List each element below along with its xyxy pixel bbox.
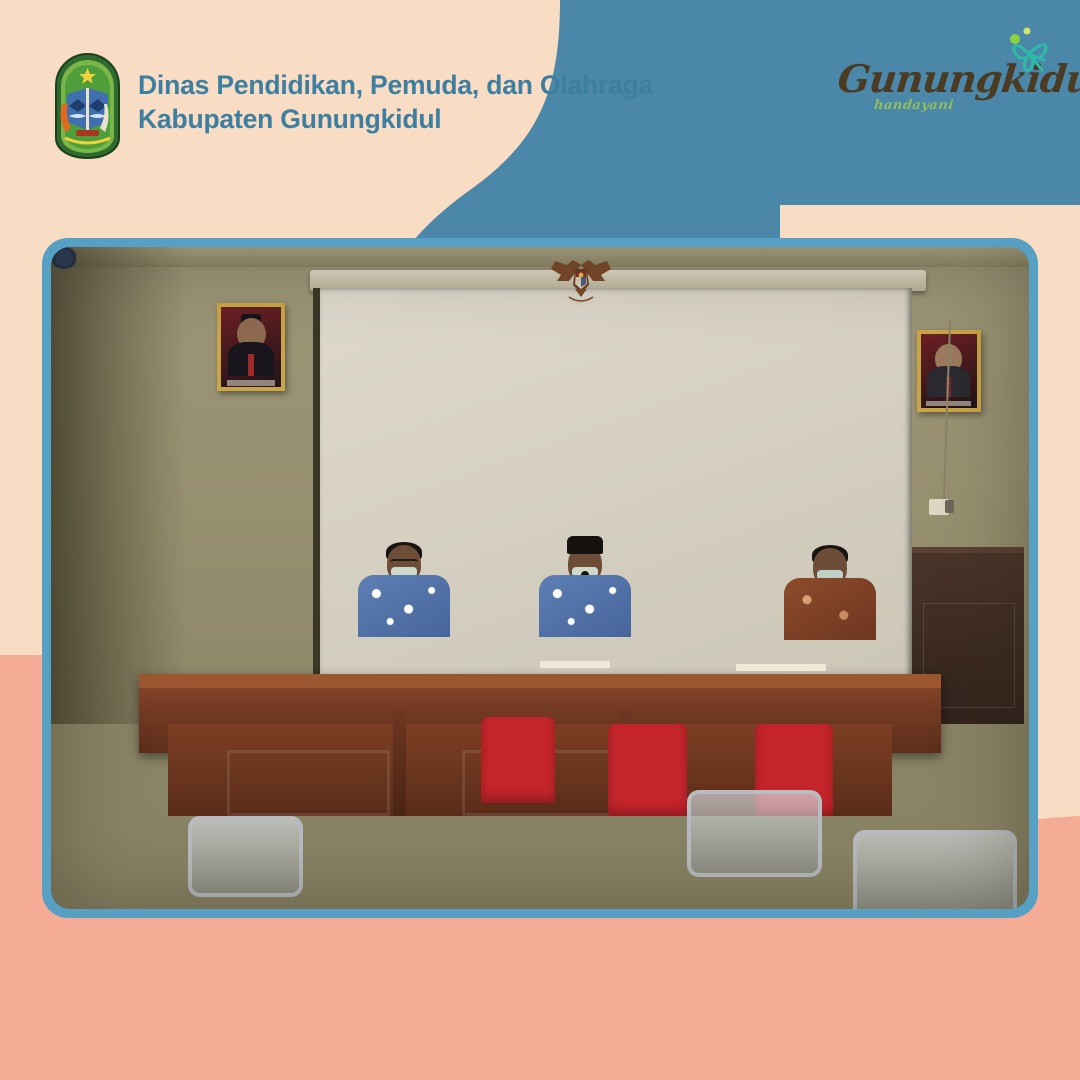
page-title: Dinas Pendidikan, Pemuda, dan Olahraga K… <box>138 68 653 136</box>
butterfly-ornament-icon <box>998 24 1060 80</box>
panelist-center <box>535 545 635 645</box>
audience-chair-steel-2 <box>853 830 1017 909</box>
ceiling-cornice <box>51 247 1029 267</box>
title-line-2: Kabupaten Gunungkidul <box>138 102 653 136</box>
logo-tagline: handayani <box>873 98 954 113</box>
event-photo <box>51 247 1029 909</box>
panelist-left <box>354 545 454 645</box>
audience-chair-steel-3 <box>188 816 304 897</box>
wall-power-socket <box>929 499 949 515</box>
poster-canvas: Dinas Pendidikan, Pemuda, dan Olahraga K… <box>0 0 1080 1080</box>
audience-chair-steel-1 <box>687 790 822 877</box>
desk-papers-center <box>540 661 610 668</box>
poster-header: Dinas Pendidikan, Pemuda, dan Olahraga K… <box>0 0 1080 210</box>
title-line-1: Dinas Pendidikan, Pemuda, dan Olahraga <box>138 68 653 102</box>
garuda-pancasila-emblem-icon <box>545 255 617 317</box>
gunungkidul-regency-crest-icon <box>45 52 130 160</box>
wall-shadow <box>51 247 188 724</box>
gunungkidul-handayani-logo: Gunungkidul handayani <box>838 38 1058 118</box>
desk-post-left <box>393 710 406 816</box>
audience-chair-red-1 <box>481 717 554 803</box>
desk-papers-right <box>736 664 826 671</box>
event-photo-frame <box>42 238 1038 918</box>
audience-chair-red-2 <box>608 724 686 817</box>
poster-footer: @dikpora_gk pendidikan.gunungkidulkab.go… <box>0 940 1080 1080</box>
panelist-right <box>780 548 880 648</box>
president-portrait <box>217 303 285 391</box>
desk-carving-left <box>227 750 389 816</box>
